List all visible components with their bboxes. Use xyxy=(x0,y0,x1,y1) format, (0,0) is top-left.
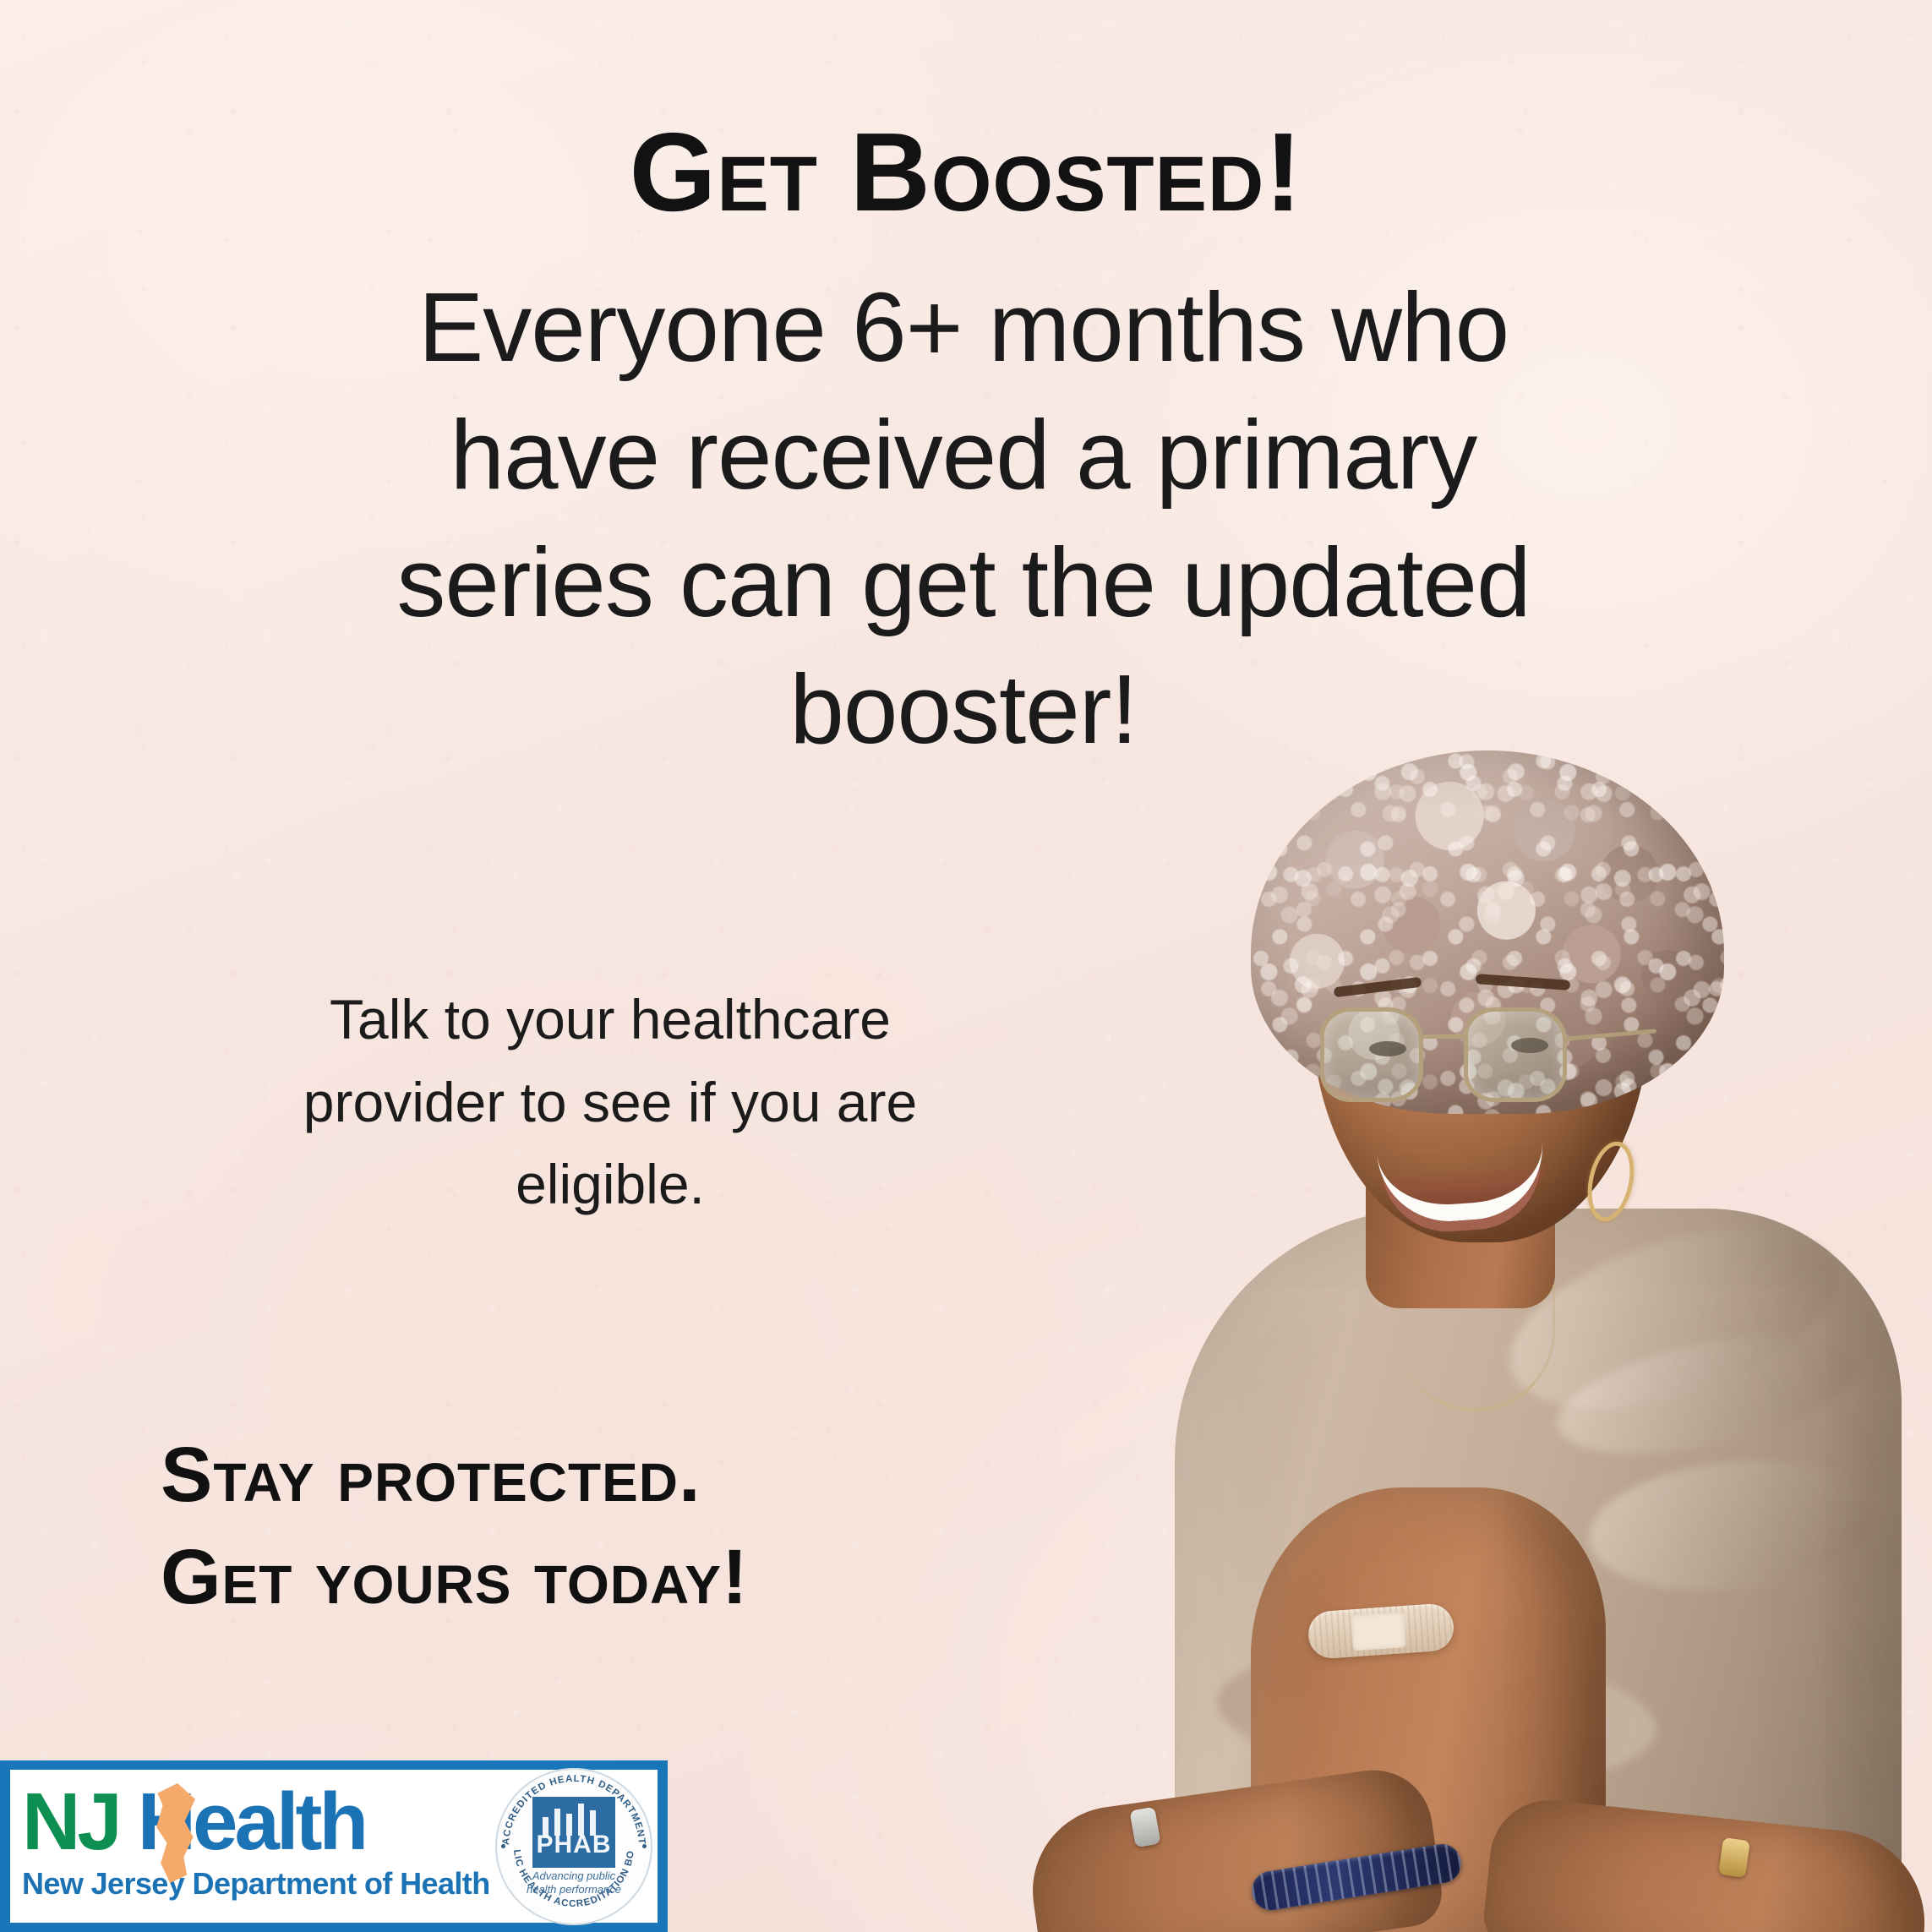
seal-tagline: Advancing public health performance xyxy=(524,1869,624,1897)
seal-dot-right xyxy=(642,1844,647,1848)
subtext-line: eligible. xyxy=(196,1143,1024,1226)
seal-name: PHAB xyxy=(532,1831,615,1859)
bandage-pad xyxy=(1351,1612,1406,1651)
lede-line: booster! xyxy=(254,646,1673,773)
gold-ring xyxy=(1718,1837,1750,1878)
cta-line: Get yours today! xyxy=(161,1526,1225,1629)
subtext-line: Talk to your healthcare xyxy=(196,979,1024,1062)
call-to-action: Stay protected. Get yours today! xyxy=(161,1424,1225,1629)
lede-paragraph: Everyone 6+ months who have received a p… xyxy=(254,264,1673,773)
photo-woman-with-bandage xyxy=(997,701,1932,1932)
page-title: Get Boosted! xyxy=(0,117,1932,228)
lede-line: series can get the updated xyxy=(254,519,1673,647)
wordmark-nj: NJ xyxy=(22,1776,119,1867)
lens-right xyxy=(1464,1007,1567,1102)
poster-canvas: Get Boosted! Everyone 6+ months who have… xyxy=(0,0,1932,1932)
wordmark-top-line: NJHealth xyxy=(22,1782,494,1863)
lede-line: Everyone 6+ months who xyxy=(254,264,1673,391)
glasses-temple xyxy=(1565,1029,1656,1040)
logo-subtitle: New Jersey Department of Health xyxy=(22,1866,494,1902)
nj-health-wordmark: NJHealth New Jersey Department of Health xyxy=(10,1770,494,1923)
lens-left xyxy=(1320,1007,1423,1102)
eyeglasses-icon xyxy=(1312,999,1658,1109)
logo-inner-panel: NJHealth New Jersey Department of Health… xyxy=(10,1770,658,1923)
nj-health-logo: NJHealth New Jersey Department of Health… xyxy=(0,1760,668,1932)
cta-line: Stay protected. xyxy=(161,1424,1225,1526)
phab-accreditation-seal: ACCREDITED HEALTH DEPARTMENT PUBLIC HEAL… xyxy=(495,1768,652,1925)
lede-line: have received a primary xyxy=(254,391,1673,519)
subtext-line: provider to see if you are xyxy=(196,1062,1024,1144)
glasses-bridge xyxy=(1423,1034,1464,1039)
adhesive-bandage-icon xyxy=(1307,1602,1454,1660)
seal-dot-left xyxy=(501,1844,505,1848)
subtext-paragraph: Talk to your healthcare provider to see … xyxy=(196,979,1024,1226)
